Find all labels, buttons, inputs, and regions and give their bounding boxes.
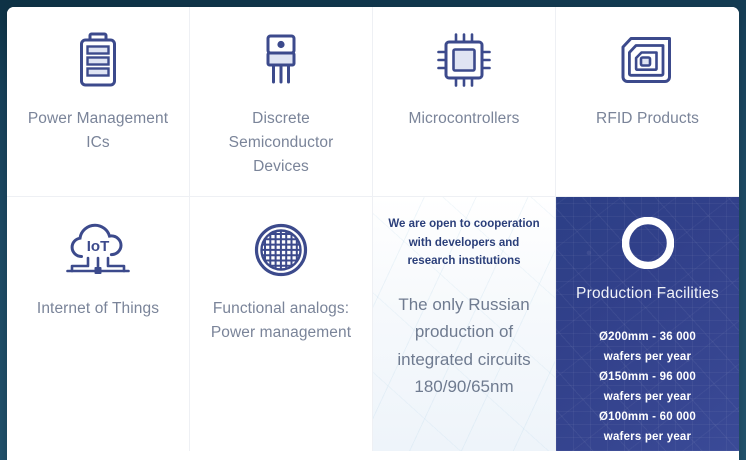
cooperation-headline: The only Russian production of integrate… [387, 291, 541, 401]
production-facilities-title: Production Facilities [576, 285, 719, 303]
production-facilities-specs: Ø200mm - 36 000 wafers per year Ø150mm -… [599, 327, 696, 447]
cooperation-blueprint-panel[interactable]: We are open to cooperation with develope… [373, 197, 556, 451]
spec-line: Ø150mm - 96 000 [599, 367, 696, 387]
category-label: Power Management ICs [19, 107, 177, 155]
microchip-icon [436, 29, 492, 91]
category-tile-functional-analogs[interactable]: Functional analogs: Power management [190, 197, 373, 451]
transistor-icon [256, 29, 306, 91]
category-tile-power-management-ics[interactable]: Power Management ICs [7, 7, 190, 197]
ring-logo-icon [622, 217, 674, 269]
spec-line: Ø200mm - 36 000 [599, 327, 696, 347]
category-tile-microcontrollers[interactable]: Microcontrollers [373, 7, 556, 197]
category-tile-discrete-semiconductor-devices[interactable]: Discrete Semiconductor Devices [190, 7, 373, 197]
category-tile-rfid-products[interactable]: RFID Products [556, 7, 739, 197]
spec-line: wafers per year [599, 387, 696, 407]
spec-line: Ø100mm - 60 000 [599, 407, 696, 427]
page-background: Power Management ICs Discrete Semiconduc… [0, 0, 746, 460]
product-category-grid: Power Management ICs Discrete Semiconduc… [7, 7, 739, 460]
category-label: Discrete Semiconductor Devices [202, 107, 360, 179]
production-facilities-panel[interactable]: Production Facilities Ø200mm - 36 000 wa… [556, 197, 739, 451]
rfid-tag-icon [621, 29, 675, 91]
category-label: Internet of Things [37, 297, 159, 321]
product-category-card: Power Management ICs Discrete Semiconduc… [7, 7, 739, 460]
svg-text:IoT: IoT [87, 238, 110, 255]
category-label: RFID Products [596, 107, 699, 131]
category-label: Microcontrollers [409, 107, 520, 131]
category-label: Functional analogs: Power management [202, 297, 360, 345]
category-tile-internet-of-things[interactable]: IoT Internet of Things [7, 197, 190, 451]
silicon-wafer-icon [254, 219, 308, 281]
battery-icon [76, 29, 120, 91]
cooperation-kicker: We are open to cooperation with develope… [387, 215, 541, 271]
spec-line: wafers per year [599, 347, 696, 367]
spec-line: wafers per year [599, 427, 696, 447]
iot-cloud-icon: IoT [65, 219, 131, 281]
